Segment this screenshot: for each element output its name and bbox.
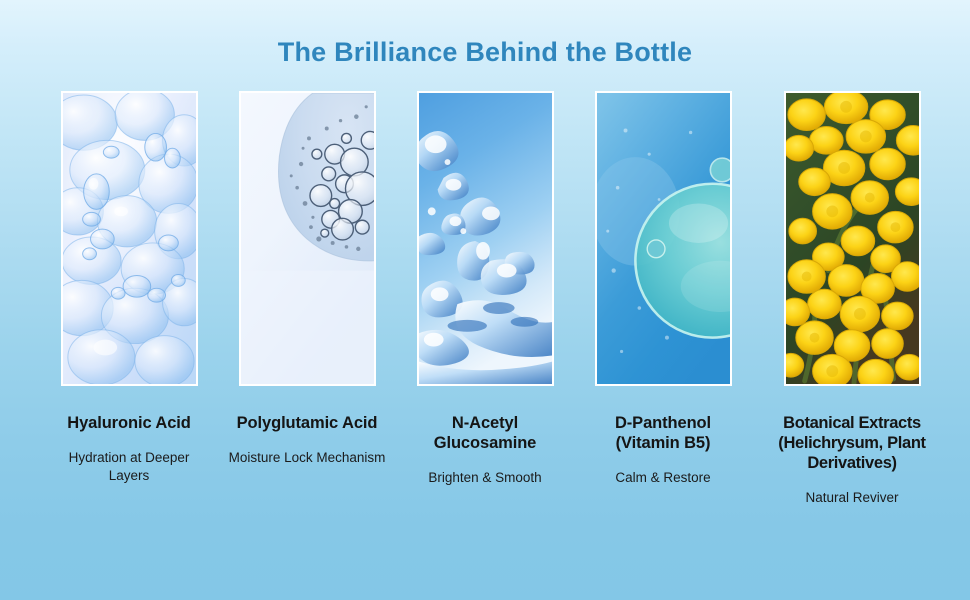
- turquoise-bubble-photo: [595, 91, 732, 386]
- ingredient-card-row: Hyaluronic Acid Hydration at Deeper Laye…: [0, 91, 970, 508]
- ingredient-name: Botanical Extracts (Helichrysum, Plant D…: [759, 413, 945, 473]
- ingredient-card[interactable]: N-Acetyl Glucosamine Brighten & Smooth: [405, 91, 565, 488]
- ingredient-benefit: Calm & Restore: [615, 469, 710, 488]
- water-splash-photo: [417, 91, 554, 386]
- page-title: The Brilliance Behind the Bottle: [278, 38, 692, 68]
- ingredient-infographic: The Brilliance Behind the Bottle: [0, 0, 970, 600]
- ingredient-name: Hyaluronic Acid: [67, 413, 191, 433]
- helichrysum-flowers-photo: [784, 91, 921, 386]
- ingredient-benefit: Brighten & Smooth: [428, 469, 541, 488]
- gel-droplet-bubbles-photo: [239, 91, 376, 386]
- ingredient-benefit: Hydration at Deeper Layers: [49, 449, 209, 486]
- foam-bubbles-photo: [61, 91, 198, 386]
- ingredient-benefit: Moisture Lock Mechanism: [229, 449, 386, 468]
- ingredient-card[interactable]: Hyaluronic Acid Hydration at Deeper Laye…: [49, 91, 209, 486]
- ingredient-card[interactable]: Botanical Extracts (Helichrysum, Plant D…: [759, 91, 945, 508]
- ingredient-benefit: Natural Reviver: [805, 489, 898, 508]
- ingredient-card[interactable]: D-Panthenol (Vitamin B5) Calm & Restore: [583, 91, 743, 488]
- ingredient-name: D-Panthenol (Vitamin B5): [583, 413, 743, 453]
- ingredient-card[interactable]: Polyglutamic Acid Moisture Lock Mechanis…: [227, 91, 387, 468]
- ingredient-name: N-Acetyl Glucosamine: [405, 413, 565, 453]
- ingredient-name: Polyglutamic Acid: [237, 413, 378, 433]
